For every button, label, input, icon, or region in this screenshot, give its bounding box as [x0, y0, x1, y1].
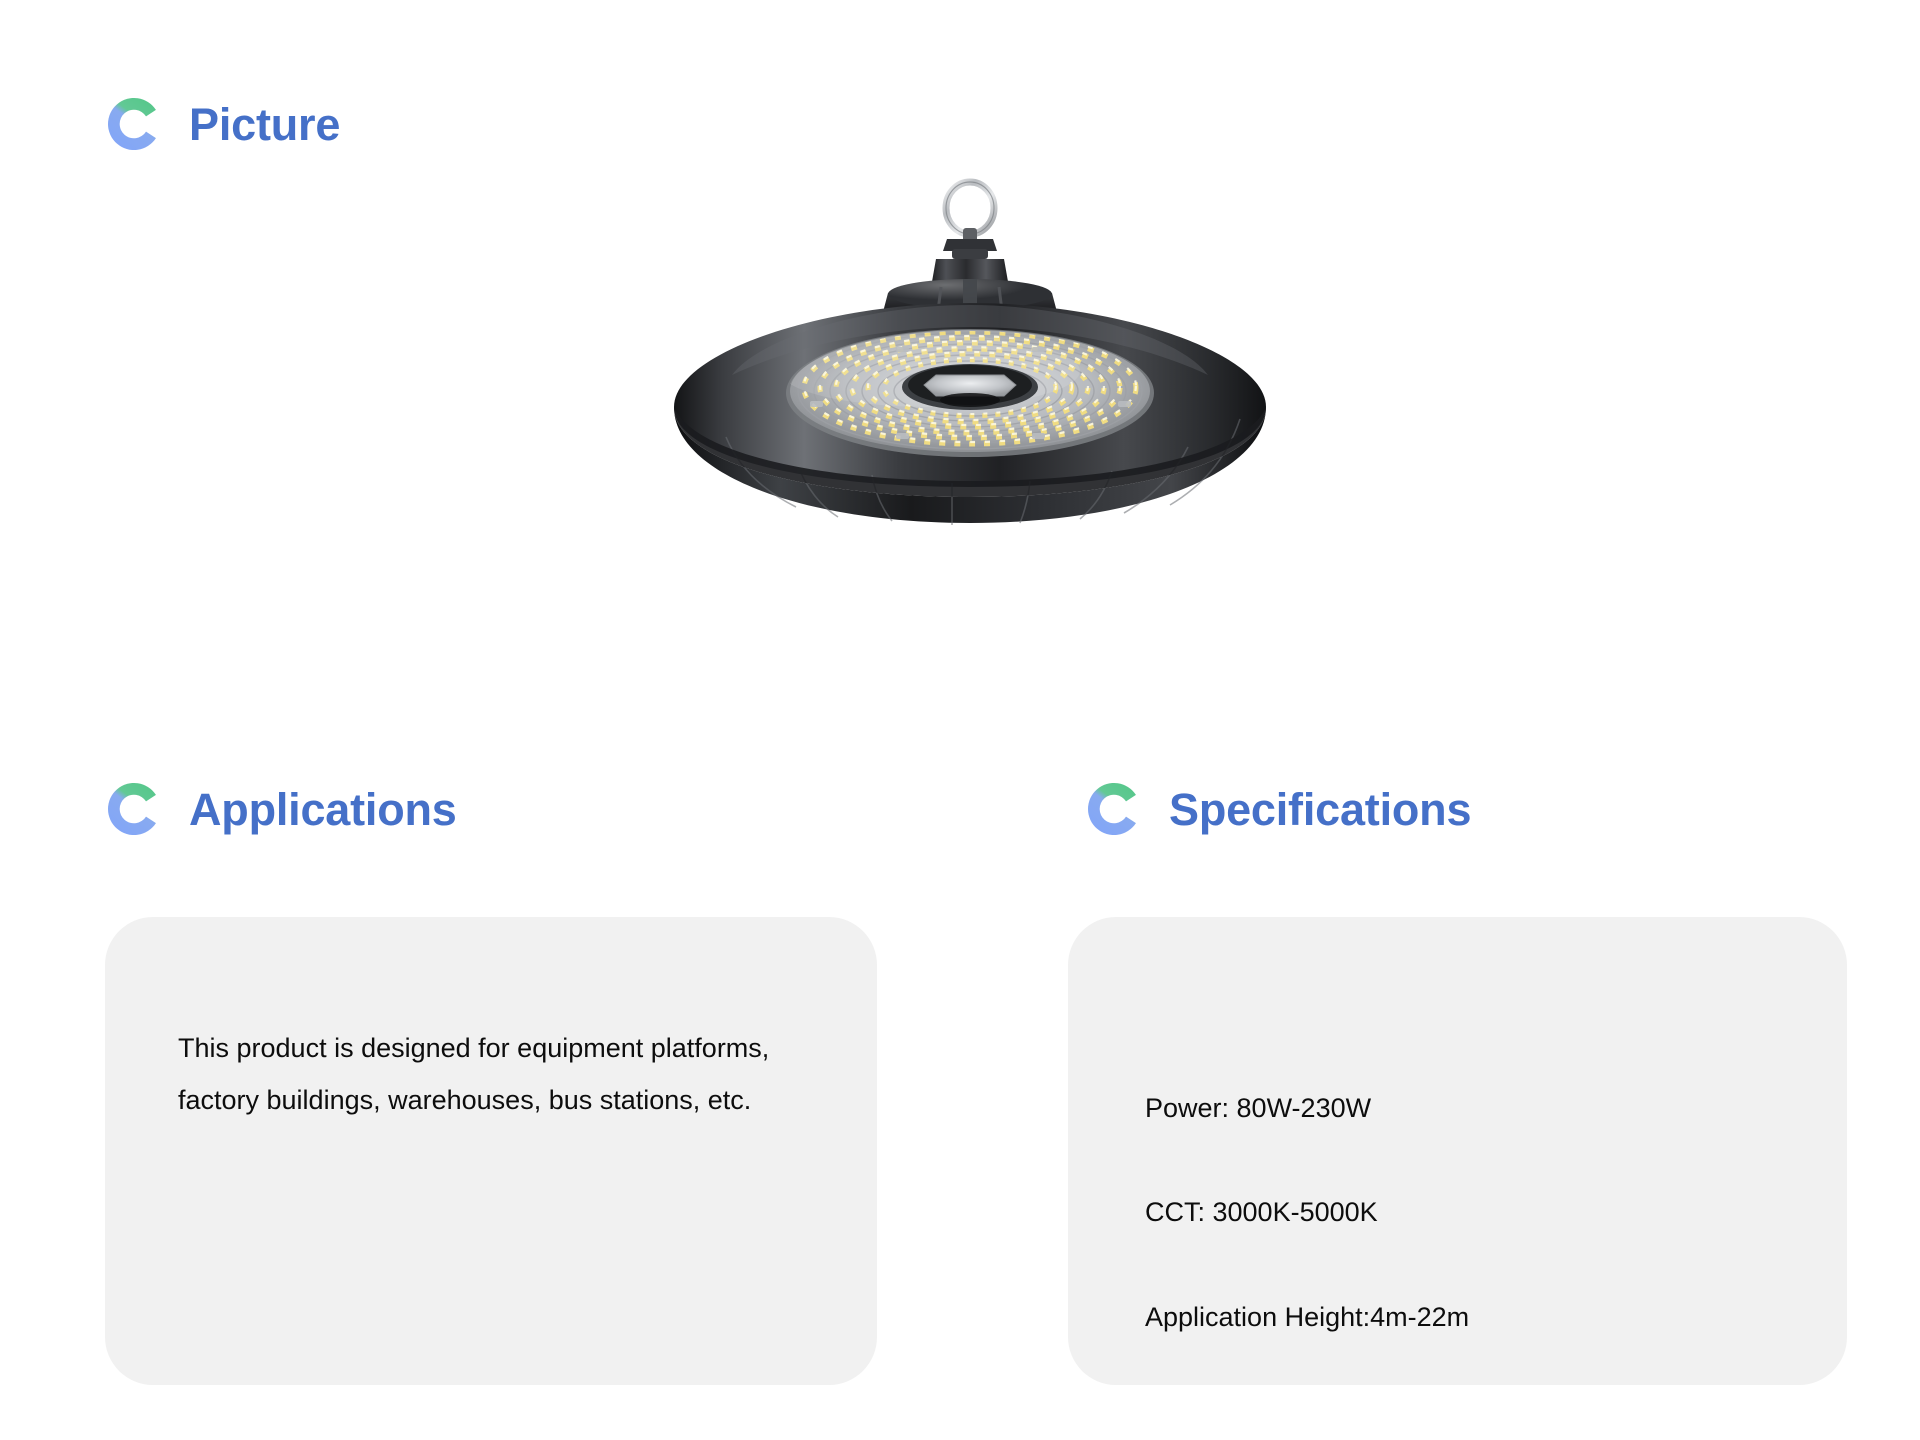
specifications-text: Power: 80W-230W CCT: 3000K-5000K Applica…	[1145, 1030, 1785, 1395]
spec-line-cct: CCT: 3000K-5000K	[1145, 1186, 1785, 1238]
section-header-picture: Picture	[103, 93, 340, 155]
specifications-card: Power: 80W-230W CCT: 3000K-5000K Applica…	[1068, 917, 1847, 1385]
product-picture	[600, 175, 1340, 575]
led-high-bay-light-illustration	[600, 175, 1340, 575]
brand-c-logo-icon	[103, 93, 165, 155]
section-header-applications: Applications	[103, 778, 457, 840]
hanging-ring-icon	[946, 182, 994, 242]
applications-card: This product is designed for equipment p…	[105, 917, 877, 1385]
brand-c-logo-icon	[103, 778, 165, 840]
section-header-specifications: Specifications	[1083, 778, 1471, 840]
spec-line-height: Application Height:4m-22m	[1145, 1291, 1785, 1343]
section-title-picture: Picture	[189, 102, 340, 147]
section-title-applications: Applications	[189, 787, 457, 832]
spec-line-power: Power: 80W-230W	[1145, 1082, 1785, 1134]
applications-text: This product is designed for equipment p…	[178, 1022, 818, 1126]
section-title-specifications: Specifications	[1169, 787, 1471, 832]
brand-c-logo-icon	[1083, 778, 1145, 840]
center-optic	[902, 364, 1038, 410]
